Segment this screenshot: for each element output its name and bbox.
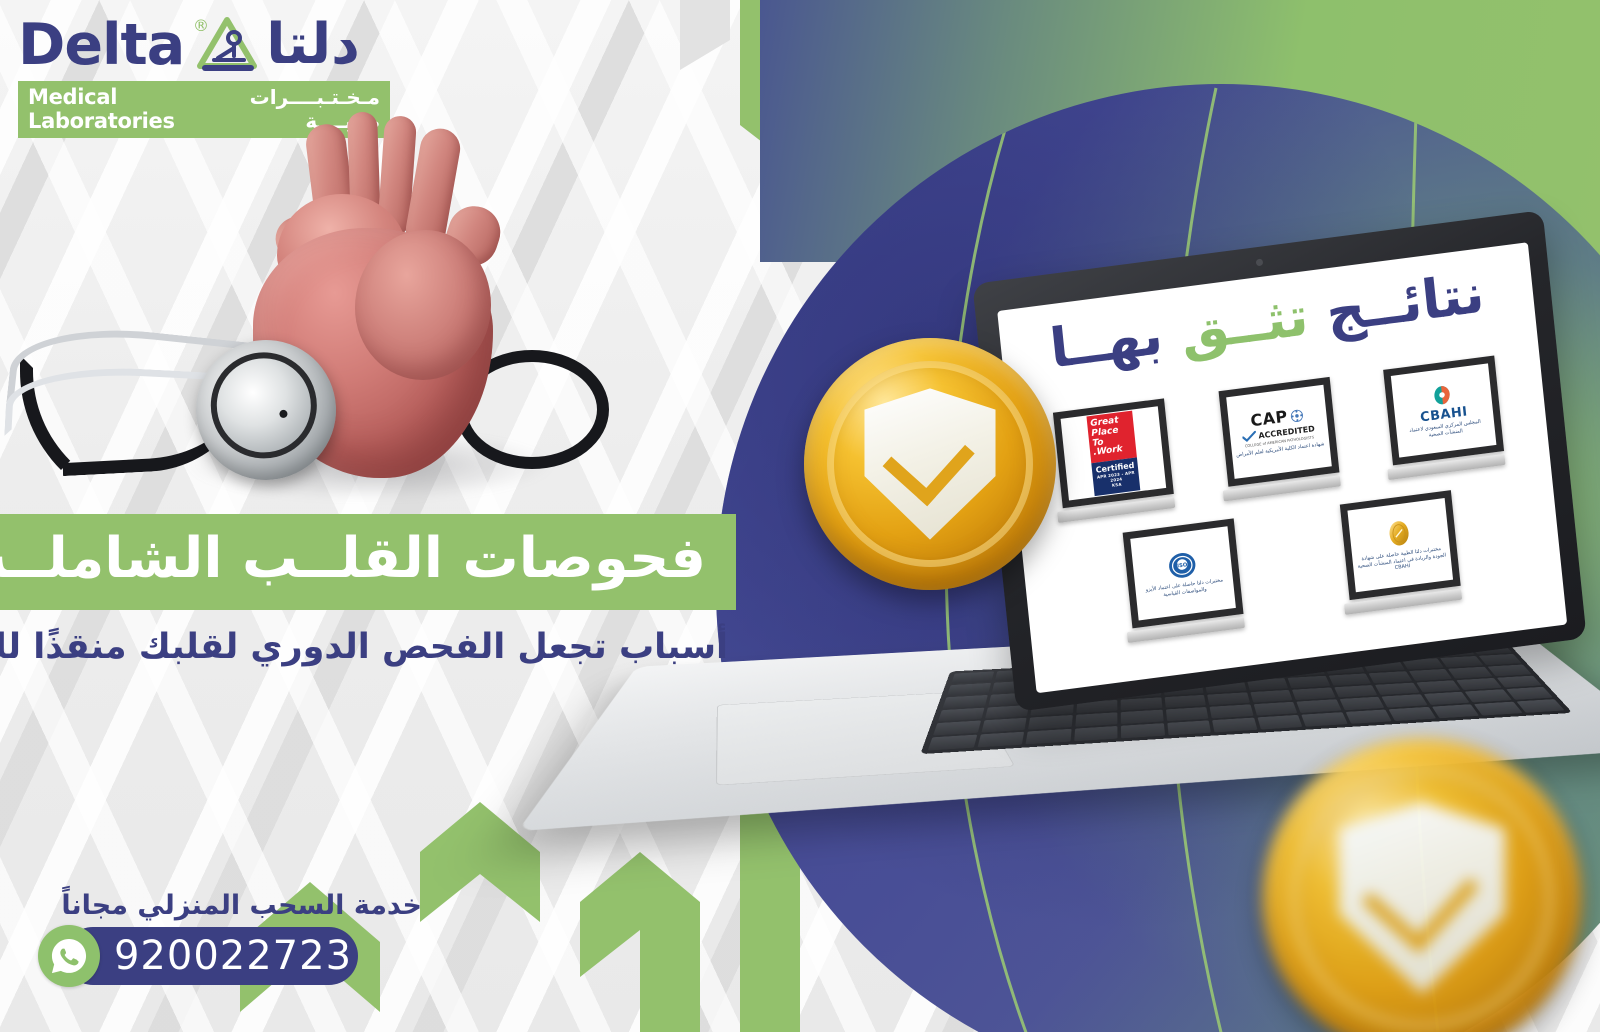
certificate-subtitle: مختبرات دلتا الطبية حاصلة على شهادة الجو… <box>1356 545 1447 577</box>
great-place-to-work-icon: Great Place To Work. Certified APR 2023 … <box>1087 411 1141 496</box>
stethoscope-diaphragm <box>200 341 328 469</box>
microscope-in-triangle-icon: ® <box>190 14 260 76</box>
certificate-frame: CBAHI المجلس المركزي السعودي لاعتماد الم… <box>1383 355 1504 465</box>
heart-photo <box>0 100 620 530</box>
laptop-screen: نتائــج تثــق بهــا CBAHI المجلس المرك <box>997 242 1567 693</box>
check-icon <box>1362 835 1479 953</box>
certificate-iso: ISO مختبرات دلتا حاصلة على اعتماد الأيزو… <box>1123 518 1245 642</box>
gold-medal-icon <box>1385 517 1414 550</box>
cap-emblem-icon <box>1290 408 1304 423</box>
logo-wordmark-ar: دلتا <box>266 17 360 73</box>
certificate-frame: ISO مختبرات دلتا حاصلة على اعتماد الأيزو… <box>1123 518 1244 628</box>
home-collection-label: خدمة السحب المنزلي مجاناً <box>20 892 440 919</box>
certificate-great-place-to-work: Great Place To Work. Certified APR 2023 … <box>1053 398 1175 522</box>
certificate-gold-medal: مختبرات دلتا الطبية حاصلة على شهادة الجو… <box>1340 490 1462 614</box>
screen-headline-part-1: نتائــج <box>1305 261 1488 347</box>
cbahi-teal-drop-icon <box>1430 383 1454 408</box>
quality-shield-badge-blurred <box>1262 738 1582 1032</box>
certificate-cbahi: CBAHI المجلس المركزي السعودي لاعتماد الم… <box>1383 355 1505 479</box>
svg-text:®: ® <box>193 16 209 35</box>
iso-blue-seal-icon: ISO <box>1166 549 1199 583</box>
heart-photo-stage <box>0 100 620 530</box>
headline-banner: فحوصات القلــب الشاملــة <box>0 514 736 610</box>
screen-headline-part-2: تثــق <box>1159 284 1311 366</box>
gold-coin-shield-check-icon-blurred <box>1262 738 1582 1032</box>
certificate-frame: CAP ACCREDITED COLLEGE of AMERICAN PATHO… <box>1218 377 1339 487</box>
subtitle: أسباب تجعل الفحص الدوري لقلبك منقذًا للح… <box>0 618 728 671</box>
logo-wordmark-en: Delta <box>18 17 184 74</box>
subtitle-text: أسباب تجعل الفحص الدوري لقلبك منقذًا للح… <box>0 627 728 667</box>
certificate-subtitle: مختبرات دلتا حاصلة على اعتماد الأيزو وال… <box>1139 577 1230 602</box>
screen-headline-part-3: بهــا <box>1047 303 1166 380</box>
poster-canvas: Delta ® دلتا Medical Laboratories مـخـتـ… <box>0 0 1600 1032</box>
whatsapp-icon[interactable] <box>38 925 100 987</box>
check-icon <box>882 413 974 506</box>
phone-number-pill[interactable]: 920022723 <box>64 927 358 985</box>
gpw-badge: Certified APR 2023 - APR 2024 KSA <box>1091 457 1140 496</box>
phone-number: 920022723 <box>70 936 352 976</box>
gpw-title: Great Place To Work. <box>1087 411 1137 464</box>
certificate-cap: CAP ACCREDITED COLLEGE of AMERICAN PATHO… <box>1218 377 1340 501</box>
laptop-lid: نتائــج تثــق بهــا CBAHI المجلس المرك <box>972 210 1586 712</box>
contact-block: خدمة السحب المنزلي مجاناً 920022723 <box>20 892 440 987</box>
check-icon <box>1242 431 1257 443</box>
webcam-icon <box>1255 259 1263 267</box>
heart-right-lobe <box>355 230 491 380</box>
logo-top-row: Delta ® دلتا <box>18 14 390 76</box>
page-title: فحوصات القلــب الشاملــة <box>0 531 736 593</box>
certificate-frame: مختبرات دلتا الطبية حاصلة على شهادة الجو… <box>1340 490 1461 600</box>
quality-shield-badge <box>804 338 1056 590</box>
stethoscope-diaphragm-dot <box>279 409 289 419</box>
phone-row[interactable]: 920022723 <box>20 925 440 987</box>
gold-coin-shield-check-icon <box>804 338 1056 590</box>
certificate-frame: Great Place To Work. Certified APR 2023 … <box>1053 398 1174 508</box>
